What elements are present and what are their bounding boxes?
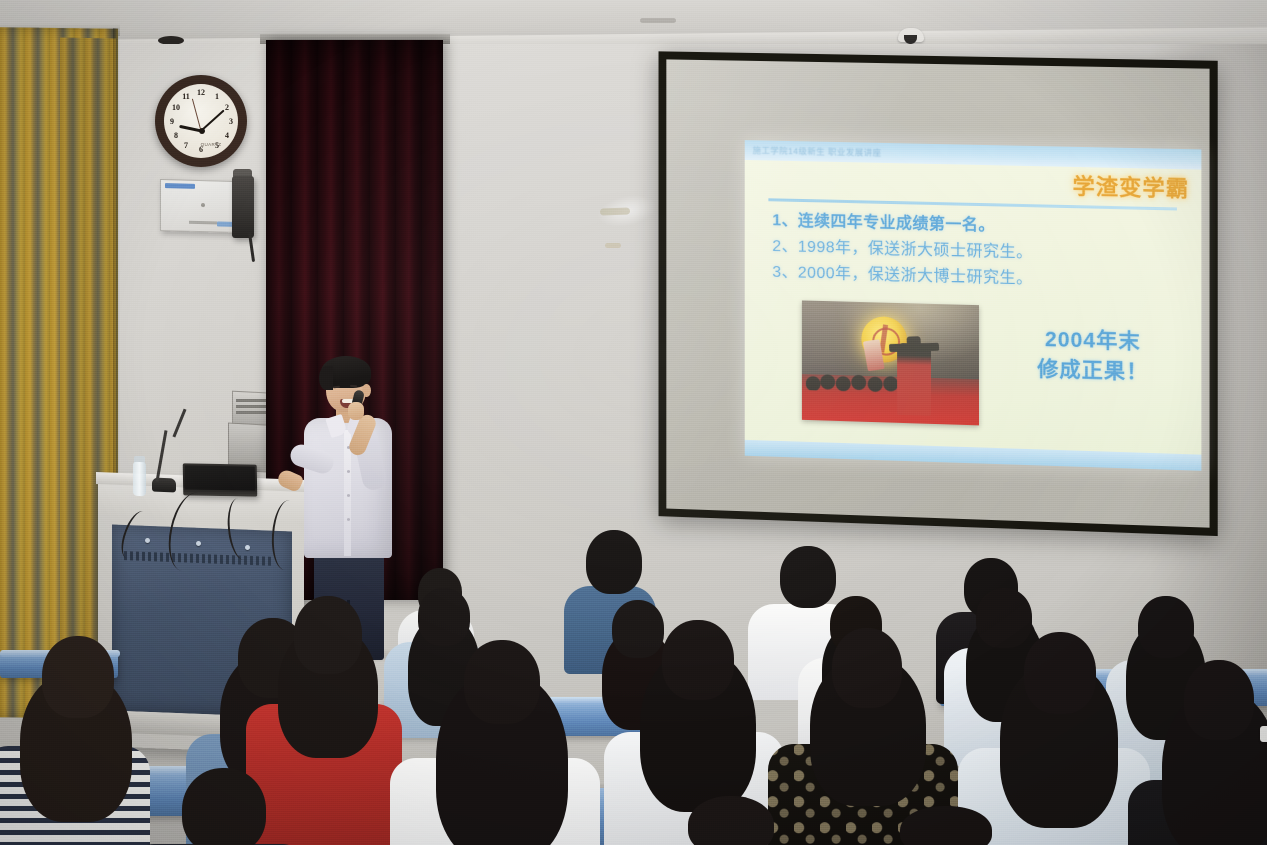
clock-brand-label: QUARTZ (186, 142, 236, 147)
wall-control-panel[interactable] (160, 179, 238, 233)
wall-clock: 12 1 2 3 4 5 6 7 8 9 10 11 QUARTZ (155, 75, 247, 167)
photo-projection-haze (802, 300, 979, 425)
person-head (612, 600, 664, 658)
panel-text-line (189, 221, 217, 225)
water-bottle-podium (133, 462, 146, 496)
person-head (182, 768, 266, 845)
clock-numeral: 3 (226, 117, 236, 126)
person-head (780, 546, 836, 608)
clock-face: 12 1 2 3 4 5 6 7 8 9 10 11 QUARTZ (164, 84, 238, 158)
slide-title: 学渣变学霸 (1073, 169, 1190, 204)
person-head (832, 628, 902, 708)
clock-numeral: 10 (171, 103, 181, 112)
dome-camera-icon (898, 28, 924, 42)
panel-indicator-dot (201, 203, 205, 207)
clock-center-pin (199, 128, 205, 134)
person-head (688, 796, 774, 845)
person-head (1184, 660, 1254, 740)
clock-numeral: 9 (167, 117, 177, 126)
lectern-screw (145, 538, 150, 543)
clock-second-hand (192, 99, 202, 131)
projection-screen: 施工学院14级新生 职业发展讲座 学渣变学霸 1、连续四年专业成绩第一名。 2、… (659, 51, 1218, 536)
presenter-right-hand (348, 402, 364, 420)
slide-bullet-list: 1、连续四年专业成绩第一名。 2、1998年，保送浙大硕士研究生。 3、2000… (772, 208, 1193, 296)
clock-numeral: 1 (212, 92, 222, 101)
person-head (464, 640, 540, 724)
person-head (294, 596, 362, 674)
person-head (662, 620, 734, 700)
person-head (976, 588, 1032, 648)
wall-mounted-device (232, 176, 254, 238)
slide-accent-line: 修成正果！ (1007, 354, 1179, 389)
slide-graduation-photo (802, 300, 979, 425)
clock-numeral: 8 (171, 131, 181, 140)
person-head (586, 530, 642, 594)
person-head (1024, 632, 1096, 714)
panel-label-tag-secondary (217, 221, 233, 226)
slide-accent-line: 2004年末 (1007, 324, 1179, 359)
person-head (42, 636, 114, 718)
slide-accent-text: 2004年末 修成正果！ (1007, 324, 1179, 389)
clock-numeral: 12 (196, 88, 206, 97)
lecture-hall-photo: 12 1 2 3 4 5 6 7 8 9 10 11 QUARTZ (0, 0, 1267, 845)
wall-mark (600, 207, 630, 215)
person-head (900, 806, 992, 845)
ceiling-smudge (640, 18, 676, 23)
presentation-slide: 施工学院14级新生 职业发展讲座 学渣变学霸 1、连续四年专业成绩第一名。 2、… (745, 140, 1202, 471)
presenter-hair-side (319, 366, 333, 390)
hair-clip-icon (1260, 726, 1267, 742)
wall-mark-secondary (605, 243, 621, 248)
laptop-screen (185, 465, 255, 490)
clock-numeral: 11 (181, 92, 191, 101)
clock-numeral: 4 (222, 131, 232, 140)
person-head (418, 588, 470, 646)
panel-label-tag (165, 183, 195, 189)
person-head (1138, 596, 1194, 658)
